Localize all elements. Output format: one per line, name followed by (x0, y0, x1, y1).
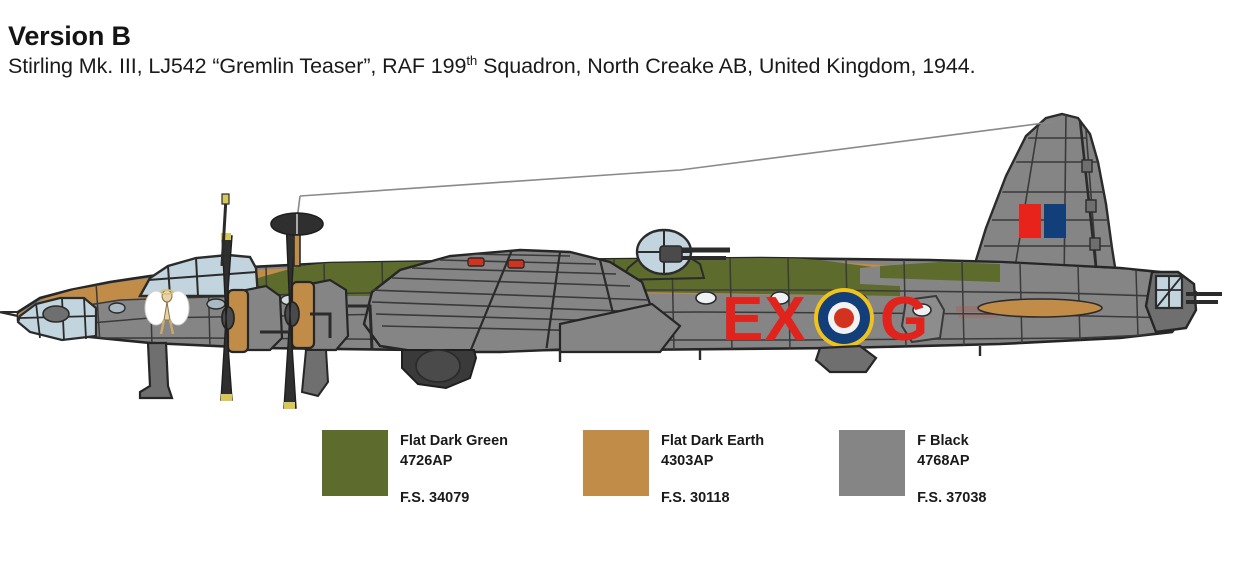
page-title: Version B (8, 22, 1232, 50)
paint-entry-flat-dark-green: Flat Dark Green 4726AP F.S. 34079 (322, 430, 508, 509)
squadron-code-right: G (880, 285, 928, 354)
paint-text-block: F Black 4768AP F.S. 37038 (917, 430, 986, 509)
aircraft-description-prefix: Stirling Mk. III, LJ542 “Gremlin Teaser”… (8, 54, 466, 78)
fuselage-window (109, 303, 125, 313)
paint-fs-code: F.S. 34079 (400, 489, 508, 509)
paint-swatch-flat-dark-green (322, 430, 388, 496)
undercarriage (140, 343, 476, 398)
paint-text-block: Flat Dark Earth 4303AP F.S. 30118 (661, 430, 764, 509)
paint-name: F Black (917, 432, 986, 452)
inboard-spinner (285, 302, 299, 326)
vertical-tail-fin (968, 114, 1120, 286)
tailplane-root-fairing (978, 299, 1102, 317)
mast-tip (222, 194, 229, 204)
fin-flash-red (1019, 204, 1041, 238)
turret-gun-mount (660, 246, 682, 262)
nose-turret-gun-port (43, 306, 69, 322)
paint-code: 4768AP (917, 452, 986, 472)
squadron-code-left: EX (722, 285, 807, 354)
nose-art-head (162, 290, 172, 302)
paint-text-block: Flat Dark Green 4726AP F.S. 34079 (400, 430, 508, 509)
aerial-wire (300, 122, 1052, 196)
paint-legend: Flat Dark Green 4726AP F.S. 34079 Flat D… (322, 430, 986, 509)
paint-fs-code: F.S. 30118 (661, 489, 764, 509)
page-header: Version B Stirling Mk. III, LJ542 “Greml… (8, 22, 1232, 79)
paint-code: 4303AP (661, 452, 764, 472)
roundel-red (834, 308, 854, 328)
gear-leg-fairing (302, 350, 328, 396)
raf-roundel (814, 288, 874, 348)
formation-light-red (508, 260, 524, 268)
aircraft-description-suffix: Squadron, North Creake AB, United Kingdo… (477, 54, 975, 78)
paint-code: 4726AP (400, 452, 508, 472)
paint-fs-code: F.S. 37038 (917, 489, 986, 509)
df-loop-antenna (271, 213, 323, 266)
outboard-prop-tip-lower (221, 394, 232, 401)
paint-name: Flat Dark Green (400, 432, 508, 452)
rudder-hinge-bracket (1086, 200, 1096, 212)
main-wheel-hub (416, 350, 460, 382)
paint-entry-f-black: F Black 4768AP F.S. 37038 (839, 430, 986, 509)
aircraft-profile-illustration: EX G (0, 100, 1240, 430)
aircraft-description: Stirling Mk. III, LJ542 “Gremlin Teaser”… (8, 54, 1232, 79)
rudder-hinge-bracket (1090, 238, 1100, 250)
fuselage-window (696, 292, 716, 304)
paint-name: Flat Dark Earth (661, 432, 764, 452)
version-b-profile-page: Version B Stirling Mk. III, LJ542 “Greml… (0, 0, 1240, 582)
rudder-hinge-bracket (1082, 160, 1092, 172)
paint-swatch-flat-dark-earth (583, 430, 649, 496)
ventral-radome (816, 346, 876, 372)
paint-swatch-f-black (839, 430, 905, 496)
tailwheel-strut (140, 343, 172, 398)
outboard-spinner (222, 307, 234, 329)
inboard-prop-tip-lower (284, 402, 295, 409)
fuselage-window (207, 299, 225, 309)
ordinal-suffix: th (466, 53, 477, 68)
formation-light-red (468, 258, 484, 266)
tail-turret (1146, 272, 1222, 332)
fin-flash-blue (1044, 204, 1066, 238)
paint-entry-flat-dark-earth: Flat Dark Earth 4303AP F.S. 30118 (583, 430, 764, 509)
